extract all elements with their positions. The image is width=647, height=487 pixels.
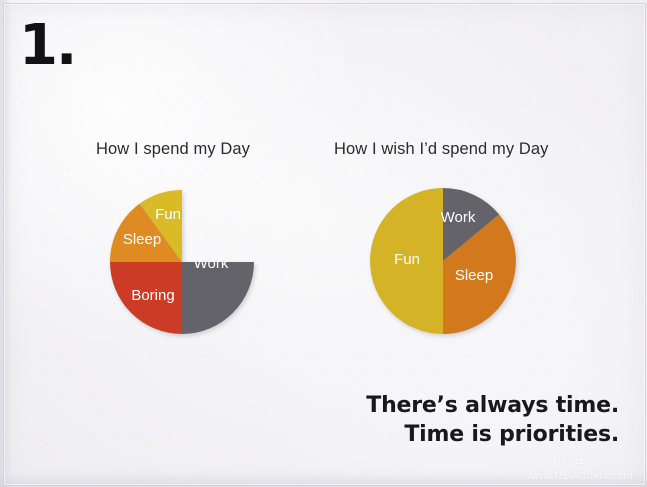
tagline-line-2: Time is priorities. [366, 420, 619, 449]
tagline-line-1: There’s always time. [366, 391, 619, 420]
pie-chart-how-i-wish-id-spend-my-day: Work Sleep Fun [366, 186, 522, 338]
slide-canvas: 1. How I spend my Day Work Boring Sleep [0, 0, 647, 487]
chart-1-title: How I spend my Day [96, 140, 250, 159]
pie-chart-how-i-spend-my-day: Work Boring Sleep Fun [106, 186, 258, 338]
watermark: MBA中国网 www.MBAChina.com [527, 457, 633, 483]
pie-slice-work[interactable] [182, 262, 254, 334]
watermark-brand: MBA中国网 [527, 457, 633, 471]
pie-slice-label-sleep: Sleep [455, 267, 493, 284]
chart-2-title: How I wish I’d spend my Day [334, 140, 549, 159]
pie-slice-label-work: Work [441, 209, 476, 226]
pie-chart-1-svg: Work Boring Sleep Fun [106, 186, 258, 338]
slide-number: 1. [19, 18, 75, 74]
pie-chart-2-svg: Work Sleep Fun [366, 186, 522, 338]
watermark-url: www.MBAChina.com [527, 470, 633, 483]
pie-slice-label-boring: Boring [131, 287, 174, 304]
page-edge-shadow-bottom [0, 473, 647, 487]
pie-slice-label-work: Work [194, 255, 229, 272]
page-edge-shadow-left [0, 0, 12, 487]
tagline: There’s always time. Time is priorities. [366, 391, 619, 450]
pie-slice-label-sleep: Sleep [123, 231, 161, 248]
pie-slice-label-fun: Fun [394, 251, 420, 268]
pie-slice-label-fun: Fun [155, 206, 181, 223]
